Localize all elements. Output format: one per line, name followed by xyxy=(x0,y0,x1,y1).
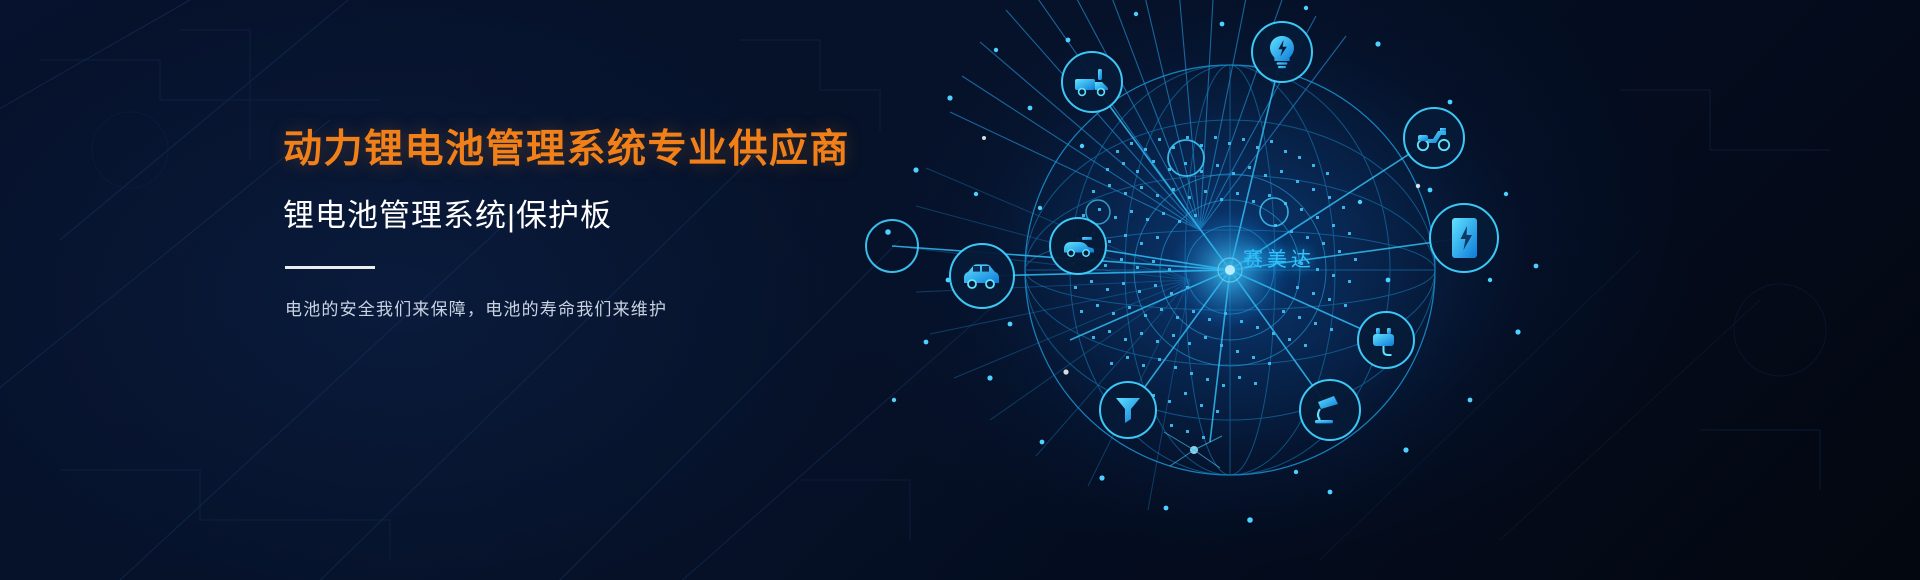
plug-icon xyxy=(1373,328,1394,355)
node-scooter xyxy=(1404,108,1464,168)
node-sedan xyxy=(950,244,1014,308)
network-globe-graphic xyxy=(830,0,1570,580)
car-icon xyxy=(1064,237,1094,256)
funnel-icon xyxy=(1116,398,1140,423)
lamp-icon xyxy=(1315,396,1338,423)
node-lamp xyxy=(1300,380,1360,440)
empty-node-small xyxy=(1086,200,1110,224)
node-powerbank xyxy=(1430,204,1498,272)
node-car xyxy=(1050,218,1106,274)
empty-node-mid xyxy=(1260,198,1288,226)
node-plug xyxy=(1358,312,1414,368)
lightbulb-icon xyxy=(1270,36,1294,68)
title-divider xyxy=(285,266,375,269)
truck-icon xyxy=(1075,69,1108,95)
node-funnel xyxy=(1100,382,1156,438)
node-lightbulb xyxy=(1252,22,1312,82)
globe-logo-text: 赛美达 xyxy=(1243,243,1315,272)
bottom-flare xyxy=(1164,432,1222,468)
powerbank-icon xyxy=(1452,218,1477,258)
core-flare xyxy=(1218,258,1242,282)
empty-node-upper xyxy=(1168,140,1204,176)
scooter-icon xyxy=(1418,128,1449,150)
sedan-icon xyxy=(964,264,999,288)
hero-banner: 动力锂电池管理系统专业供应商 锂电池管理系统|保护板 电池的安全我们来保障，电池… xyxy=(0,0,1920,580)
hero-subtitle: 锂电池管理系统|保护板 xyxy=(283,198,903,234)
hero-text-block: 动力锂电池管理系统专业供应商 锂电池管理系统|保护板 电池的安全我们来保障，电池… xyxy=(283,128,903,320)
node-truck xyxy=(1062,52,1122,112)
page-title: 动力锂电池管理系统专业供应商 xyxy=(283,128,903,172)
hero-tagline: 电池的安全我们来保障，电池的寿命我们来维护 xyxy=(285,295,903,320)
